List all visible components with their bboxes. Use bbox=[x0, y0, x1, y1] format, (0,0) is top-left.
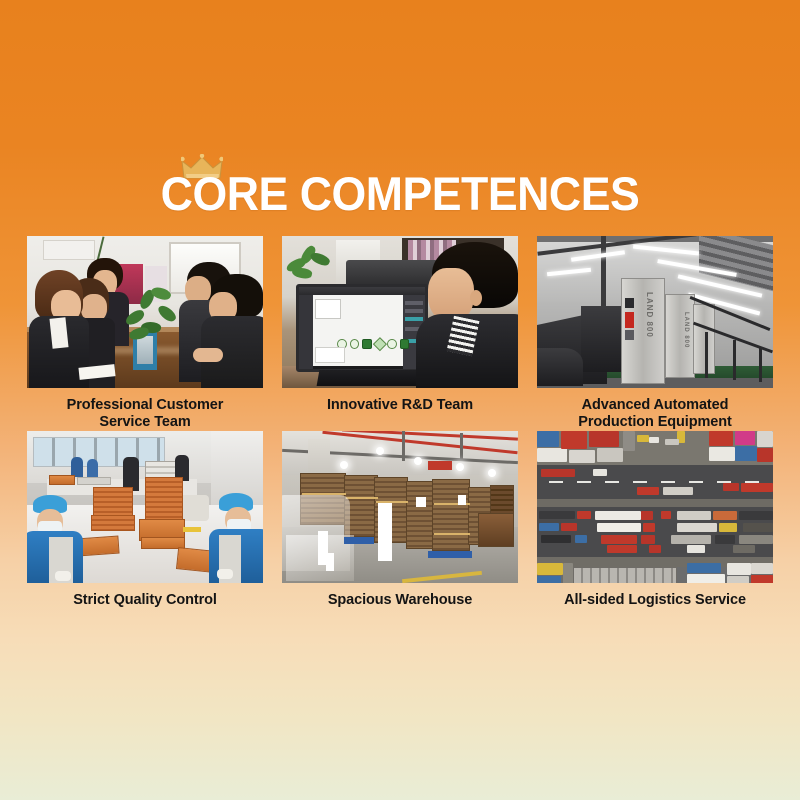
competence-card-strict-quality-control[interactable]: Strict Quality Control bbox=[27, 431, 263, 609]
caption-line-1: Advanced Automated bbox=[537, 397, 773, 414]
caption-line-2: Production Equipment bbox=[537, 414, 773, 431]
competence-caption: All-sided Logistics Service bbox=[537, 583, 773, 609]
warehouse-photo bbox=[282, 431, 518, 583]
competence-card-all-sided-logistics-service[interactable]: All-sided Logistics Service bbox=[537, 431, 773, 609]
meeting-room-photo bbox=[27, 236, 263, 388]
competence-card-innovative-rd-team[interactable]: Innovative R&D Team bbox=[282, 236, 518, 431]
caption-line-2: Service Team bbox=[27, 414, 263, 431]
page-title-block: CORE COMPETENCES bbox=[0, 152, 800, 217]
quality-inspection-photo bbox=[27, 431, 263, 583]
competence-caption: Professional Customer Service Team bbox=[27, 388, 263, 431]
caption-line-1: All-sided Logistics Service bbox=[537, 592, 773, 609]
designer-at-computer-photo bbox=[282, 236, 518, 388]
competence-card-advanced-automated-production-equipment[interactable]: LAND 800 LAND 800 Advanced Automated Pro… bbox=[537, 236, 773, 431]
competence-card-professional-customer-service-team[interactable]: Professional Customer Service Team bbox=[27, 236, 263, 431]
competence-caption: Advanced Automated Production Equipment bbox=[537, 388, 773, 431]
competences-grid: Professional Customer Service Team bbox=[27, 236, 773, 609]
competence-caption: Spacious Warehouse bbox=[282, 583, 518, 609]
aerial-container-port-photo bbox=[537, 431, 773, 583]
competence-card-spacious-warehouse[interactable]: Spacious Warehouse bbox=[282, 431, 518, 609]
caption-line-1: Innovative R&D Team bbox=[282, 397, 518, 414]
caption-line-1: Spacious Warehouse bbox=[282, 592, 518, 609]
caption-line-1: Professional Customer bbox=[27, 397, 263, 414]
printing-press-photo: LAND 800 LAND 800 bbox=[537, 236, 773, 388]
caption-line-1: Strict Quality Control bbox=[27, 592, 263, 609]
page-title: CORE COMPETENCES bbox=[20, 152, 780, 217]
competence-caption: Strict Quality Control bbox=[27, 583, 263, 609]
competence-caption: Innovative R&D Team bbox=[282, 388, 518, 414]
